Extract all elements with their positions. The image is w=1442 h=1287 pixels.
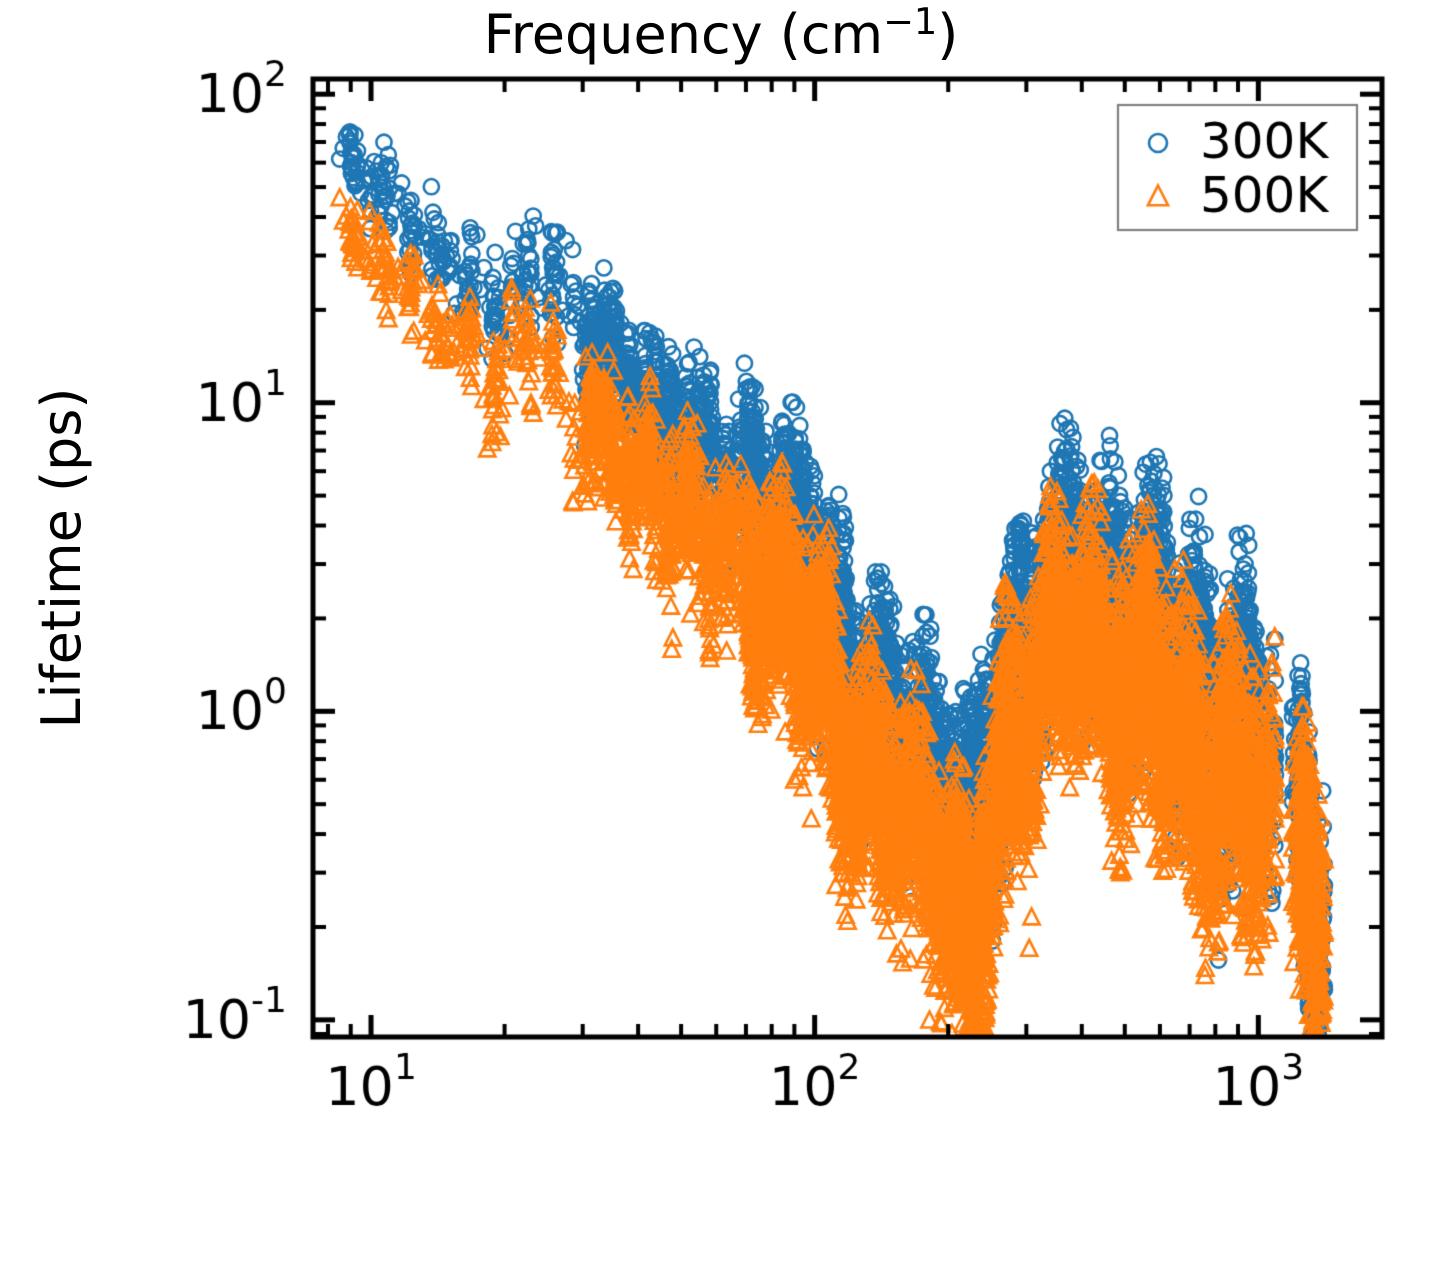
figure-root: Frequency (cm−1) Lifetime (ps) — [0, 0, 1442, 1287]
y-axis-title-wrap: Lifetime (ps) — [0, 0, 1116, 1116]
y-axis-title: Lifetime (ps) — [30, 0, 93, 1116]
